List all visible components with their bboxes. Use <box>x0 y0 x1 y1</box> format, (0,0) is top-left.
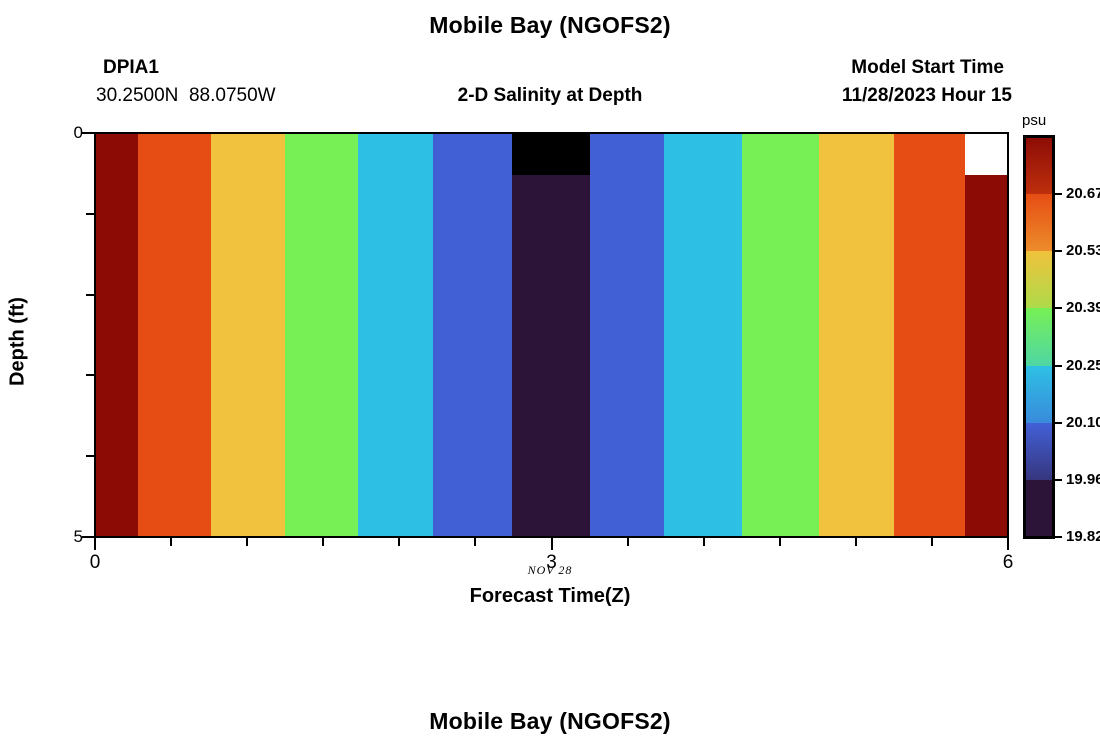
station-id-label: DPIA1 <box>103 57 159 79</box>
y-axis-minor-tick <box>86 374 95 376</box>
x-axis-minor-tick <box>398 537 400 546</box>
x-axis-tick <box>94 537 96 550</box>
colorbar-tick-label: 20.672 <box>1066 186 1100 201</box>
x-axis-title: Forecast Time(Z) <box>0 585 1100 608</box>
colorbar-segment <box>1025 251 1053 309</box>
x-axis-minor-tick <box>627 537 629 546</box>
heatmap-band <box>894 133 966 537</box>
heatmap-band <box>664 133 742 537</box>
heatmap-band <box>433 133 513 537</box>
colorbar-segment <box>1025 423 1053 481</box>
heatmap-band <box>590 133 665 537</box>
x-axis-minor-tick <box>931 537 933 546</box>
page-title: Mobile Bay (NGOFS2) <box>0 12 1100 39</box>
x-axis-tick <box>551 537 553 550</box>
date-annotation: NOV 28 <box>0 563 1100 578</box>
colorbar-tick <box>1053 365 1062 367</box>
colorbar-segment <box>1025 366 1053 424</box>
model-start-time-value: 11/28/2023 Hour 15 <box>842 85 1012 107</box>
heatmap-band <box>211 133 286 537</box>
colorbar-segment <box>1025 308 1053 366</box>
colorbar-unit-label: psu <box>1022 112 1046 129</box>
heatmap-band <box>138 133 212 537</box>
colorbar-tick <box>1053 307 1062 309</box>
colorbar-segment <box>1025 137 1053 195</box>
colorbar-tick <box>1053 536 1062 538</box>
colorbar-tick-label: 19.969 <box>1066 472 1100 487</box>
x-axis-minor-tick <box>322 537 324 546</box>
heatmap-band <box>512 133 590 537</box>
plot-region: 036 <box>95 133 1008 537</box>
heatmap-band <box>742 133 820 537</box>
colorbar-tick <box>1053 479 1062 481</box>
y-axis-label: 5 <box>43 528 83 545</box>
no-data-block <box>965 133 1008 175</box>
x-axis-minor-tick <box>474 537 476 546</box>
x-axis-minor-tick <box>779 537 781 546</box>
x-axis-minor-tick <box>246 537 248 546</box>
x-axis-minor-tick <box>855 537 857 546</box>
y-axis-title: Depth (ft) <box>7 62 30 622</box>
y-axis-label: 0 <box>43 124 83 141</box>
colorbar-tick-label: 20.391 <box>1066 300 1100 315</box>
x-axis-minor-tick <box>170 537 172 546</box>
figure-canvas: Mobile Bay (NGOFS2) DPIA1 30.2500N 88.07… <box>0 0 1100 750</box>
footer-title: Mobile Bay (NGOFS2) <box>0 708 1100 735</box>
colorbar-tick-label: 19.828 <box>1066 529 1100 544</box>
heatmap-band <box>965 133 1008 537</box>
x-axis-minor-tick <box>703 537 705 546</box>
colorbar-tick <box>1053 422 1062 424</box>
y-axis-minor-tick <box>86 294 95 296</box>
colorbar-segment <box>1025 480 1053 538</box>
colorbar-tick-label: 20.531 <box>1066 243 1100 258</box>
heatmap-band <box>819 133 894 537</box>
colorbar-segment <box>1025 194 1053 252</box>
y-axis-minor-tick <box>86 455 95 457</box>
colorbar-tick-label: 20.109 <box>1066 415 1100 430</box>
model-start-time-label: Model Start Time <box>851 57 1004 79</box>
heatmap-canvas <box>95 133 1008 537</box>
out-of-range-block <box>512 133 590 175</box>
colorbar: 20.67220.53120.39120.25020.10919.96919.8… <box>1025 137 1053 537</box>
y-axis-tick <box>82 132 95 134</box>
colorbar-tick <box>1053 250 1062 252</box>
heatmap-band <box>285 133 359 537</box>
colorbar-tick <box>1053 193 1062 195</box>
colorbar-tick-label: 20.250 <box>1066 358 1100 373</box>
heatmap-band <box>95 133 138 537</box>
heatmap-band <box>358 133 433 537</box>
y-axis-minor-tick <box>86 213 95 215</box>
x-axis-tick <box>1007 537 1009 550</box>
